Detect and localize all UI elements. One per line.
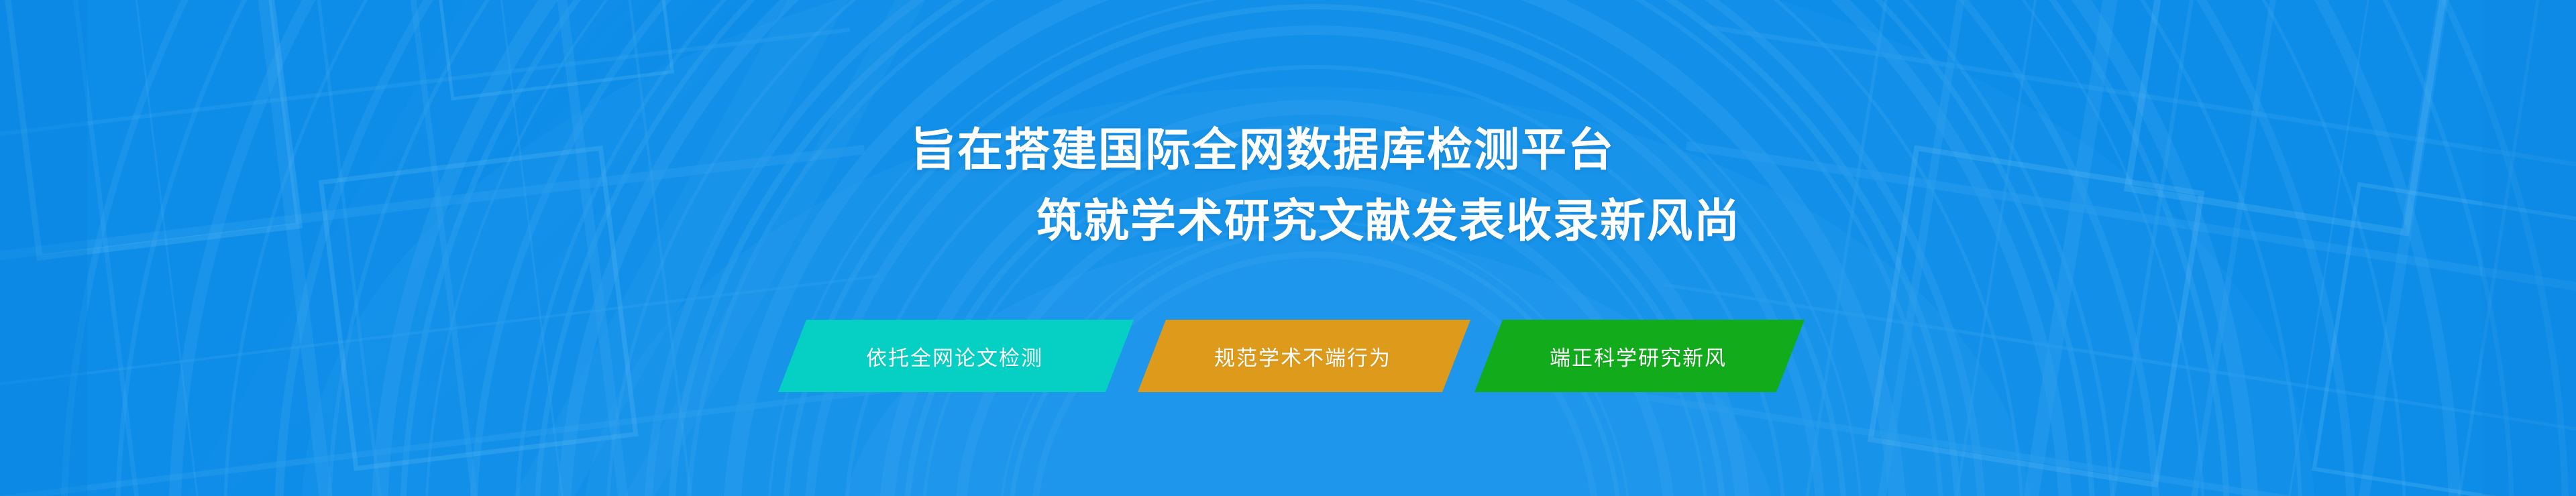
badge-item-1[interactable]: 依托全网论文检测 <box>778 320 1134 392</box>
headline-line-2: 筑就学术研究文献发表收录新风尚 <box>101 193 2576 251</box>
badge-item-3[interactable]: 端正科学研究新风 <box>1474 320 1805 392</box>
badge-label-2: 规范学术不端行为 <box>1214 341 1391 371</box>
feature-badge-band: 依托全网论文检测 规范学术不端行为 端正科学研究新风 <box>778 320 1805 392</box>
headline-line-1: 旨在搭建国际全网数据库检测平台 <box>0 122 2551 180</box>
badge-label-1: 依托全网论文检测 <box>866 341 1043 371</box>
badge-label-3: 端正科学研究新风 <box>1550 341 1727 371</box>
banner-content: 旨在搭建国际全网数据库检测平台 筑就学术研究文献发表收录新风尚 依托全网论文检测… <box>0 0 2576 496</box>
hero-banner: 旨在搭建国际全网数据库检测平台 筑就学术研究文献发表收录新风尚 依托全网论文检测… <box>0 0 2576 496</box>
badge-item-2[interactable]: 规范学术不端行为 <box>1138 320 1470 392</box>
